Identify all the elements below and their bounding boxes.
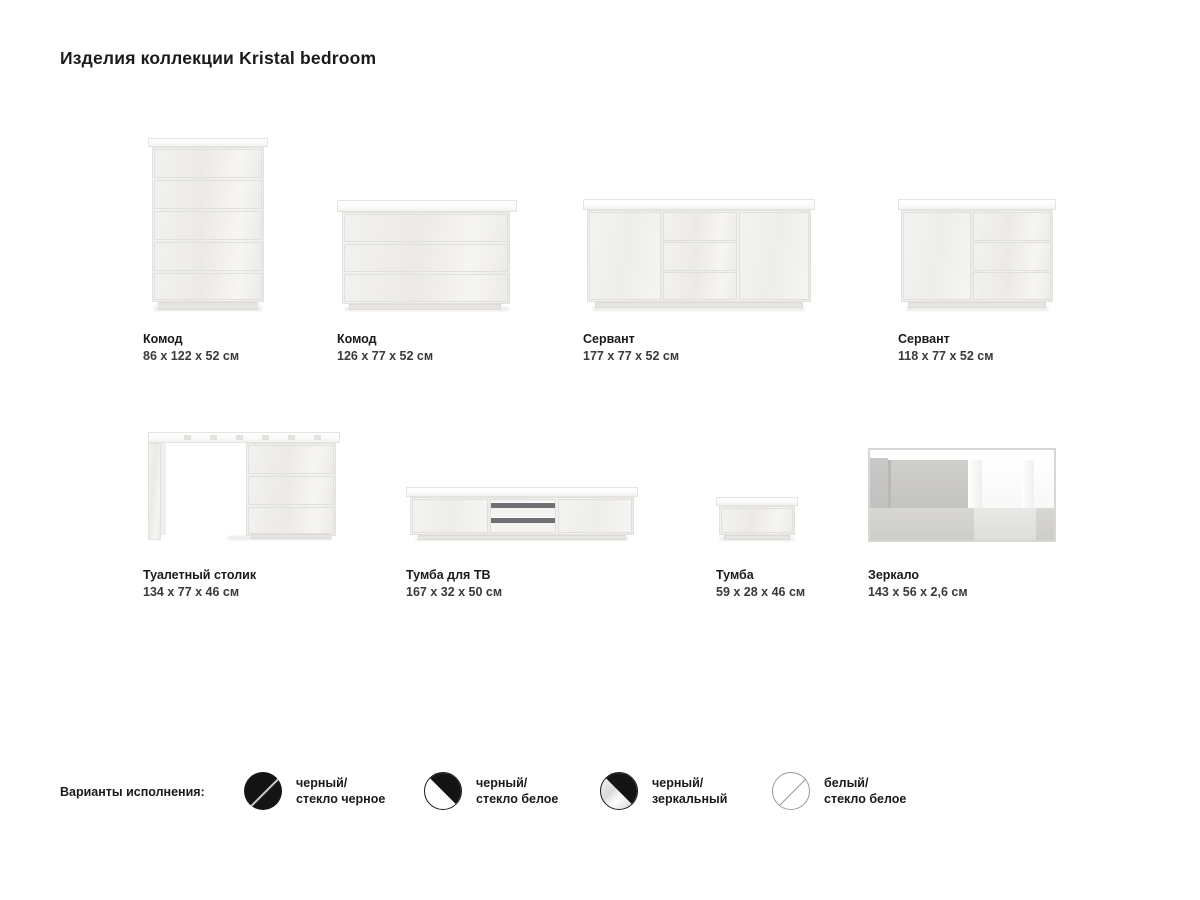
product-image-tumba-dlya-tv [406,487,638,542]
drawer-front [154,149,262,178]
swatch-black-mirror-icon [600,772,638,810]
swatch-black-white-glass-icon [424,772,462,810]
product-dimensions: 143 x 56 x 2,6 см [868,584,1088,601]
drawer-front [344,214,508,242]
product-name: Комод [337,331,537,348]
cabinet-door-right [739,212,809,300]
drawer-front [721,508,793,533]
cabinet-plinth [158,302,258,310]
table-leg-panel [148,443,161,540]
product-name: Сервант [583,331,803,348]
product-image-tumba [716,497,798,542]
product-card-zerkalo[interactable] [868,448,1056,542]
cabinet-plinth [724,535,790,540]
legend-label: Варианты исполнения: [60,785,205,799]
drawer-front [248,507,334,534]
legend-item-black-white-glass[interactable]: черный/ стекло белое [424,772,558,810]
drawer-front [663,272,737,300]
drawer-front [663,242,737,271]
legend-item-white-white-glass[interactable]: белый/ стекло белое [772,772,906,810]
drawer-front [154,273,262,300]
product-card-tumba-dlya-tv[interactable] [406,487,638,542]
legend-item-text: черный/ стекло белое [476,775,558,807]
product-card-tumba[interactable] [716,497,798,542]
open-shelf [491,502,555,508]
cabinet-top [716,497,798,506]
product-caption-tumba-dlya-tv: Тумба для ТВ 167 x 32 x 50 см [406,567,626,601]
cabinet-top [337,200,517,212]
product-dimensions: 126 x 77 x 52 см [337,348,537,365]
product-caption-zerkalo: Зеркало 143 x 56 x 2,6 см [868,567,1088,601]
product-caption-komod-86: Комод 86 x 122 x 52 см [143,331,343,365]
drawer-front [154,242,262,271]
legend-line-1: черный/ [652,775,727,791]
cabinet-top [406,487,638,497]
cabinet-top [148,138,268,147]
product-caption-komod-126: Комод 126 x 77 x 52 см [337,331,537,365]
legend-item-black-black-glass[interactable]: черный/ стекло черное [244,772,385,810]
legend-item-text: черный/ стекло черное [296,775,385,807]
product-catalog-page: { "page": { "title": "Изделия коллекции … [0,0,1200,900]
product-image-servant-118 [898,197,1056,313]
table-top [148,432,340,443]
cabinet-plinth [349,304,501,310]
product-card-servant-177[interactable] [583,197,815,313]
cabinet-door-left [412,499,488,533]
product-name: Сервант [898,331,1118,348]
product-image-servant-177 [583,197,815,313]
product-name: Туалетный столик [143,567,383,584]
product-card-servant-118[interactable] [898,197,1056,313]
product-dimensions: 167 x 32 x 50 см [406,584,626,601]
product-dimensions: 134 x 77 x 46 см [143,584,383,601]
product-card-komod-86[interactable] [148,138,268,313]
drawer-front [248,445,334,474]
drawer-front [973,242,1051,271]
product-grid: Комод 86 x 122 x 52 см Комод 126 x 77 x … [0,0,1200,900]
legend-line-1: черный/ [296,775,385,791]
product-name: Комод [143,331,343,348]
legend-item-black-mirror[interactable]: черный/ зеркальный [600,772,727,810]
product-dimensions: 86 x 122 x 52 см [143,348,343,365]
drawer-front [344,244,508,272]
product-image-zerkalo [868,448,1056,542]
cabinet-door-left [903,212,971,300]
legend-line-2: стекло белое [824,791,906,807]
product-dimensions: 177 x 77 x 52 см [583,348,803,365]
product-caption-tualetnyj-stolik: Туалетный столик 134 x 77 x 46 см [143,567,383,601]
cabinet-door-right [558,499,632,533]
product-image-komod-86 [148,138,268,313]
cabinet-plinth [908,302,1046,308]
legend-item-text: белый/ стекло белое [824,775,906,807]
product-name: Тумба для ТВ [406,567,626,584]
cabinet-plinth [418,535,626,540]
cabinet-plinth [595,302,803,308]
legend-line-2: зеркальный [652,791,727,807]
product-card-tualetnyj-stolik[interactable] [148,432,340,542]
drawer-front [154,180,262,209]
legend-line-1: черный/ [476,775,558,791]
swatch-white-white-glass-icon [772,772,810,810]
cabinet-top [898,199,1056,210]
drawer-front [344,274,508,302]
product-name: Зеркало [868,567,1088,584]
open-shelf [491,517,555,523]
product-image-tualetnyj-stolik [148,432,340,542]
product-dimensions: 118 x 77 x 52 см [898,348,1118,365]
legend-line-2: стекло черное [296,791,385,807]
swatch-black-black-glass-icon [244,772,282,810]
cabinet-door-left [589,212,661,300]
product-caption-servant-177: Сервант 177 x 77 x 52 см [583,331,803,365]
pedestal-plinth [251,534,331,539]
product-image-komod-126 [337,198,517,313]
product-card-komod-126[interactable] [337,198,517,313]
legend-item-text: черный/ зеркальный [652,775,727,807]
drawer-front [248,476,334,505]
drawer-front [663,212,737,241]
drawer-front [154,211,262,240]
cabinet-top [583,199,815,210]
product-caption-servant-118: Сервант 118 x 77 x 52 см [898,331,1118,365]
legend-line-1: белый/ [824,775,906,791]
drawer-front [973,212,1051,241]
drawer-front [973,272,1051,300]
legend-line-2: стекло белое [476,791,558,807]
